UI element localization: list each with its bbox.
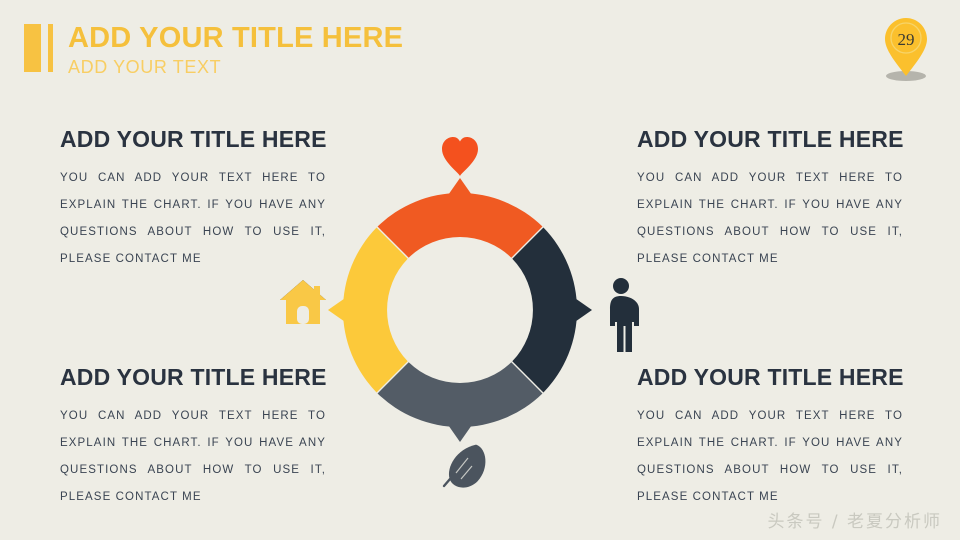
header-subtitle: ADD YOUR TEXT [68, 57, 221, 78]
accent-bar-thick-icon [24, 24, 41, 72]
donut-segment-left[interactable] [328, 228, 408, 393]
cycle-donut-chart [268, 128, 668, 498]
page-number-label: 29 [882, 30, 930, 50]
person-icon [610, 278, 639, 352]
watermark-label: 头条号 / 老夏分析师 [767, 507, 942, 532]
leaf-icon [444, 443, 491, 490]
slide-header: ADD YOUR TITLE HERE ADD YOUR TEXT 29 [0, 0, 960, 96]
block-body: YOU CAN ADD YOUR TEXT HERE TO EXPLAIN TH… [637, 165, 903, 273]
slide-canvas: ADD YOUR TITLE HERE ADD YOUR TEXT 29 ADD… [0, 0, 960, 540]
heart-icon [442, 137, 478, 176]
map-pin-icon [882, 16, 938, 84]
donut-segment-bottom[interactable] [378, 362, 543, 442]
donut-segment-right[interactable] [512, 228, 592, 393]
content-block-bottom-right: ADD YOUR TITLE HERE YOU CAN ADD YOUR TEX… [637, 364, 903, 511]
donut-segment-top[interactable] [378, 178, 543, 258]
donut-svg [268, 128, 668, 498]
header-title: ADD YOUR TITLE HERE [68, 22, 403, 55]
block-title: ADD YOUR TITLE HERE [637, 126, 903, 153]
content-block-top-right: ADD YOUR TITLE HERE YOU CAN ADD YOUR TEX… [637, 126, 903, 273]
accent-bar-thin-icon [48, 24, 53, 72]
page-number-badge: 29 [882, 16, 938, 84]
block-title: ADD YOUR TITLE HERE [637, 364, 903, 391]
block-body: YOU CAN ADD YOUR TEXT HERE TO EXPLAIN TH… [637, 403, 903, 511]
house-icon [280, 280, 326, 324]
